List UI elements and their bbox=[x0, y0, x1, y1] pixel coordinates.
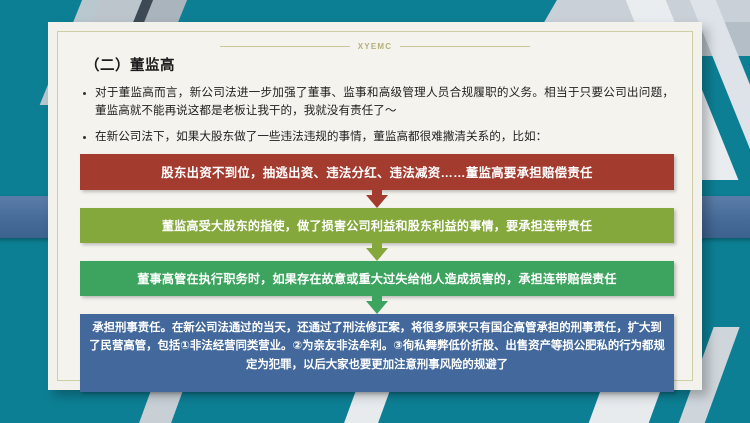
slide-card: XYEMC （二）董监高 对于董监高而言，新公司法进一步加强了董事、监事和高级管… bbox=[48, 22, 702, 390]
flow-arrow-3 bbox=[80, 296, 674, 314]
flow-chart: 股东出资不到位，抽逃出资、违法分红、违法减资……董监高要承担赔偿责任 董监高受大… bbox=[80, 154, 674, 392]
flow-step-3: 董事高管在执行职务时，如果存在故意或重大过失给他人造成损害的，承担连带赔偿责任 bbox=[80, 261, 674, 296]
logo-text: XYEMC bbox=[358, 42, 392, 51]
flow-arrow-1-shape bbox=[366, 190, 388, 208]
page-title: （二）董监高 bbox=[85, 54, 674, 75]
logo-rule: XYEMC bbox=[58, 38, 692, 54]
arrow-head-icon bbox=[366, 195, 388, 208]
logo-rule-left-line bbox=[220, 46, 350, 47]
arrow-head-icon bbox=[366, 248, 388, 261]
flow-arrow-3-shape bbox=[366, 296, 388, 314]
flow-arrow-2-shape bbox=[366, 243, 388, 261]
slide-card-inner: XYEMC （二）董监高 对于董监高而言，新公司法进一步加强了董事、监事和高级管… bbox=[57, 31, 693, 381]
bullet-item: 在新公司法下，如果大股东做了一些违法违规的事情，董监高都很难撇清关系的，比如： bbox=[80, 128, 674, 146]
slide-content: （二）董监高 对于董监高而言，新公司法进一步加强了董事、监事和高级管理人员合规履… bbox=[80, 54, 674, 392]
logo-rule-right-line bbox=[400, 46, 530, 47]
bullet-item: 对于董监高而言，新公司法进一步加强了董事、监事和高级管理人员合规履职的义务。相当… bbox=[80, 84, 674, 121]
arrow-head-icon bbox=[366, 301, 388, 314]
flow-step-1: 股东出资不到位，抽逃出资、违法分红、违法减资……董监高要承担赔偿责任 bbox=[80, 154, 674, 190]
flow-arrow-2 bbox=[80, 243, 674, 261]
slide-canvas: XYEMC （二）董监高 对于董监高而言，新公司法进一步加强了董事、监事和高级管… bbox=[0, 0, 750, 423]
bullet-list: 对于董监高而言，新公司法进一步加强了董事、监事和高级管理人员合规履职的义务。相当… bbox=[80, 84, 674, 146]
flow-arrow-1 bbox=[80, 190, 674, 208]
flow-step-2: 董监高受大股东的指使，做了损害公司利益和股东利益的事情，要承担连带责任 bbox=[80, 208, 674, 243]
flow-step-4: 承担刑事责任。在新公司法通过的当天，还通过了刑法修正案，将很多原来只有国企高管承… bbox=[80, 314, 674, 392]
